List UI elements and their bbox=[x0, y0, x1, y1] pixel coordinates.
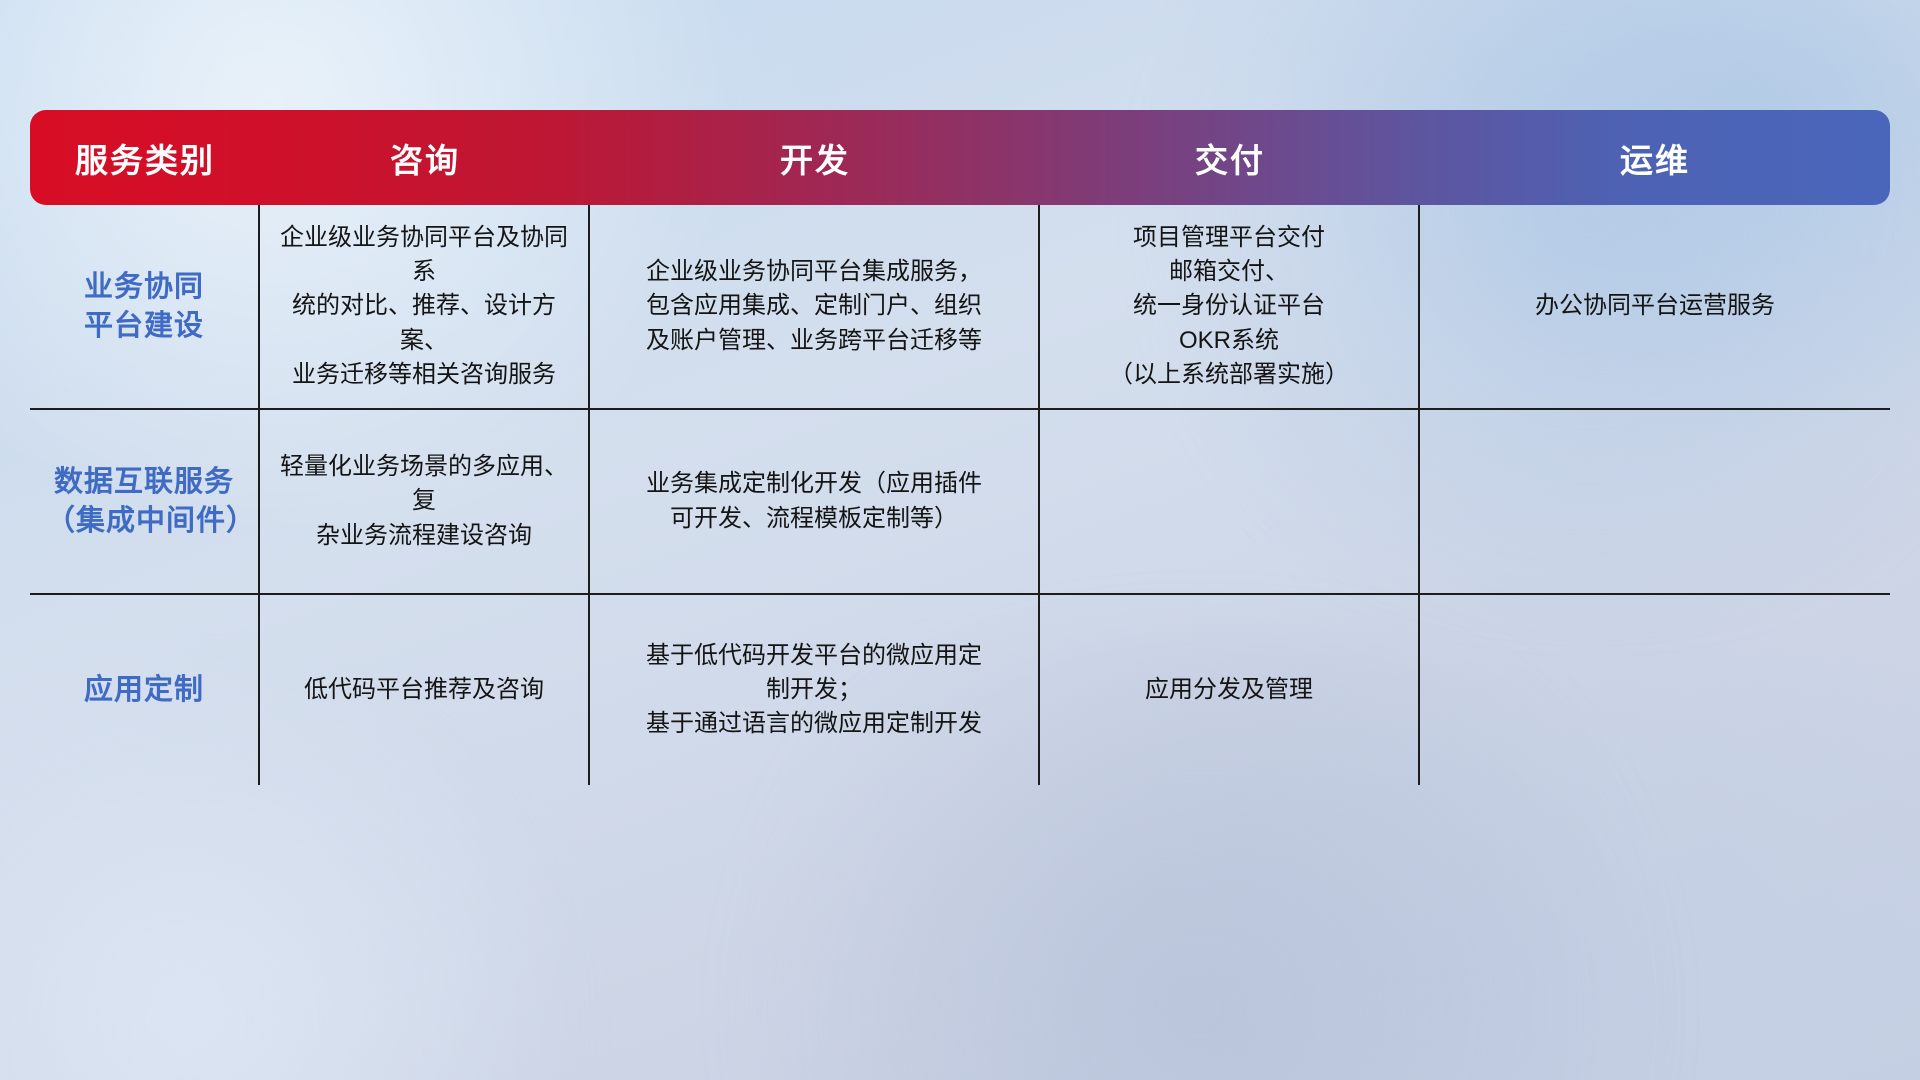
row-2-operations bbox=[1420, 410, 1890, 595]
row-3-development: 基于低代码开发平台的微应用定 制开发； 基于通过语言的微应用定制开发 bbox=[590, 595, 1040, 785]
column-header-operations: 运维 bbox=[1420, 110, 1890, 205]
column-header-delivery: 交付 bbox=[1040, 110, 1420, 205]
column-header-category: 服务类别 bbox=[30, 110, 260, 205]
row-2-category: 数据互联服务 （集成中间件） bbox=[30, 410, 260, 595]
row-3-operations bbox=[1420, 595, 1890, 785]
row-2-consulting: 轻量化业务场景的多应用、复 杂业务流程建设咨询 bbox=[260, 410, 590, 595]
service-matrix: 服务类别 咨询 开发 交付 运维 业务协同 平台建设 企业级业务协同平台及协同系… bbox=[30, 110, 1890, 785]
row-3-category: 应用定制 bbox=[30, 595, 260, 785]
column-header-consulting: 咨询 bbox=[260, 110, 590, 205]
row-1-development: 企业级业务协同平台集成服务， 包含应用集成、定制门户、组织 及账户管理、业务跨平… bbox=[590, 205, 1040, 410]
table-body: 业务协同 平台建设 企业级业务协同平台及协同系 统的对比、推荐、设计方案、 业务… bbox=[30, 205, 1890, 785]
row-2-development: 业务集成定制化开发（应用插件 可开发、流程模板定制等） bbox=[590, 410, 1040, 595]
row-3-consulting: 低代码平台推荐及咨询 bbox=[260, 595, 590, 785]
table-row: 业务协同 平台建设 企业级业务协同平台及协同系 统的对比、推荐、设计方案、 业务… bbox=[30, 205, 1890, 410]
table-header: 服务类别 咨询 开发 交付 运维 bbox=[30, 110, 1890, 205]
row-1-operations: 办公协同平台运营服务 bbox=[1420, 205, 1890, 410]
table-header-row: 服务类别 咨询 开发 交付 运维 bbox=[30, 110, 1890, 205]
column-header-development: 开发 bbox=[590, 110, 1040, 205]
service-category-table: 服务类别 咨询 开发 交付 运维 业务协同 平台建设 企业级业务协同平台及协同系… bbox=[30, 110, 1890, 785]
row-1-delivery: 项目管理平台交付 邮箱交付、 统一身份认证平台 OKR系统 （以上系统部署实施） bbox=[1040, 205, 1420, 410]
row-1-consulting: 企业级业务协同平台及协同系 统的对比、推荐、设计方案、 业务迁移等相关咨询服务 bbox=[260, 205, 590, 410]
table-row: 数据互联服务 （集成中间件） 轻量化业务场景的多应用、复 杂业务流程建设咨询 业… bbox=[30, 410, 1890, 595]
row-2-delivery bbox=[1040, 410, 1420, 595]
table-row: 应用定制 低代码平台推荐及咨询 基于低代码开发平台的微应用定 制开发； 基于通过… bbox=[30, 595, 1890, 785]
row-3-delivery: 应用分发及管理 bbox=[1040, 595, 1420, 785]
row-1-category: 业务协同 平台建设 bbox=[30, 205, 260, 410]
